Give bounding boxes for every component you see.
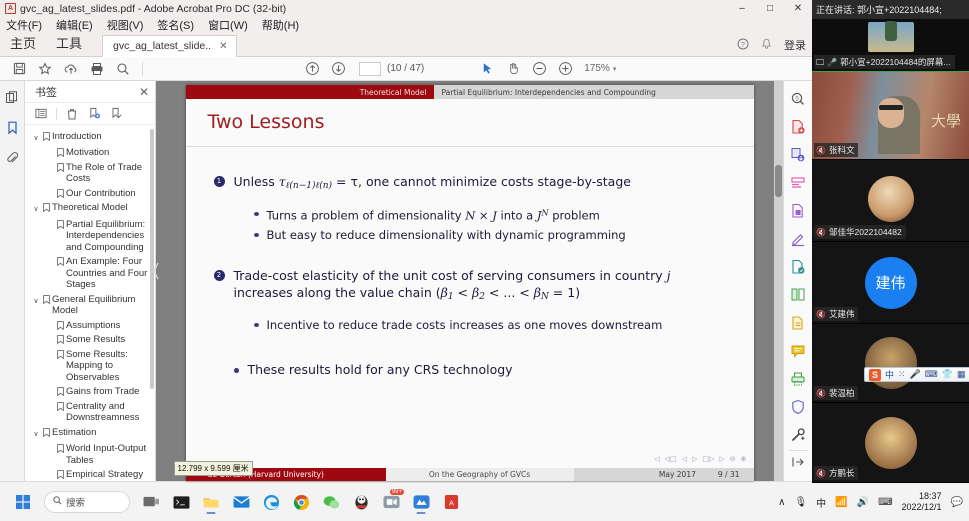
select-tool-icon[interactable] <box>474 58 500 80</box>
bookmark-spacer <box>45 386 55 388</box>
nav-zoomout-icon[interactable]: ⊖ <box>729 455 737 463</box>
fill-sign-icon[interactable] <box>787 229 809 249</box>
help-icon[interactable]: ? <box>737 38 749 53</box>
bookmark-item[interactable]: ∨Introduction <box>25 129 155 146</box>
tau-symbol: τ <box>279 174 286 189</box>
participant-name: 邹佳华2022104482 <box>829 226 902 238</box>
document-view[interactable]: Theoretical Model Partial Equilibrium: I… <box>156 81 783 481</box>
create-pdf-icon[interactable] <box>787 117 809 137</box>
ime-menu-icon[interactable]: ▦ <box>957 369 966 380</box>
slide-subsection-label: Partial Equilibrium: Interdependencies a… <box>434 85 754 99</box>
mail-icon[interactable] <box>228 489 254 515</box>
slide-footer-date: May 2017 <box>659 470 696 479</box>
search-input[interactable]: 搜索 <box>44 491 130 513</box>
bookmark-item[interactable]: An Example: Four Countries and Four Stag… <box>25 255 155 293</box>
edit-bookmark-icon[interactable] <box>106 105 126 123</box>
speaking-banner: 正在讲话: 郭小宣+2022104484; <box>812 0 969 19</box>
bullet-dot <box>254 323 259 327</box>
bookmark-icon <box>55 334 66 344</box>
bullet-dot <box>254 233 259 237</box>
scan-ocr-icon[interactable] <box>787 369 809 389</box>
scrollbar-thumb[interactable] <box>775 165 782 197</box>
bookmark-item[interactable]: Gains from Trade <box>25 385 155 400</box>
bookmark-spacer <box>45 443 55 445</box>
mic-muted-icon: 🔇 <box>816 146 826 155</box>
avatar: 建伟 <box>865 257 917 309</box>
bookmarks-panel: 书签 ✕ ∨IntroductionMotivationThe <box>25 81 156 481</box>
video-tile-camera-2[interactable]: 🔇 邹佳华2022104482 <box>812 160 969 242</box>
bookmark-icon <box>55 147 66 157</box>
point-1-prefix: Unless <box>234 174 279 189</box>
mic-muted-icon: 🔇 <box>816 469 826 478</box>
tab-strip: 主页 工具 gvc_ag_latest_slide.. ✕ ? 登录 <box>0 33 812 57</box>
slide-section-label: Theoretical Model <box>186 85 434 99</box>
participant-name: 方鹏长 <box>829 467 855 479</box>
tools-rail: () <box>783 81 812 481</box>
file-explorer-icon[interactable] <box>198 489 224 515</box>
nav-play-icon[interactable]: ▷ <box>691 455 698 463</box>
point-number-badge: 2 <box>214 270 225 281</box>
bookmark-spacer <box>45 334 55 336</box>
start-icon[interactable] <box>10 489 36 515</box>
bookmark-item[interactable]: Motivation <box>25 146 155 161</box>
slide-point-1: 1 Unless τℓ(n−1)ℓ(n) = τ, one cannot min… <box>214 173 726 195</box>
bookmark-icon <box>55 320 66 330</box>
zoom-out-icon[interactable] <box>526 58 552 80</box>
subpoint-text: But easy to reduce dimensionality with d… <box>267 225 626 245</box>
enhance-scans-icon[interactable] <box>787 313 809 333</box>
bookmark-item[interactable]: The Role of Trade Costs <box>25 160 155 186</box>
delete-bookmark-icon[interactable] <box>62 105 82 123</box>
nav-zoomin-icon[interactable]: ⊕ <box>740 455 748 463</box>
chevron-down-icon[interactable]: ∨ <box>31 202 41 216</box>
acrobat-icon[interactable]: A <box>438 489 464 515</box>
hand-tool-icon[interactable] <box>500 58 526 80</box>
subpoint: Incentive to reduce trade costs increase… <box>254 315 726 335</box>
point-2-text: Trade-cost elasticity of the unit cost o… <box>234 267 726 306</box>
bookmark-item[interactable]: Assumptions <box>25 318 155 333</box>
bookmark-spacer <box>45 349 55 351</box>
organize-pages-icon[interactable] <box>787 285 809 305</box>
ime-mode-label[interactable]: 中 <box>885 368 894 381</box>
video-tile-screenshare[interactable]: 正在讲话: 郭小宣+2022104484; 🖵 🎤 郭小宣+2022104484… <box>812 0 969 72</box>
bookmark-item[interactable]: Partial Equilibrium: Interdependencies a… <box>25 217 155 255</box>
minimize-button[interactable]: – <box>728 0 756 17</box>
tray-expand-icon[interactable]: ∧ <box>778 497 785 508</box>
video-tile-avatar-3[interactable]: 🔇 方鹏长 <box>812 403 969 483</box>
bookmark-label: Some Results: Mapping to Observables <box>66 349 151 384</box>
tray-ime-icon[interactable]: 中 <box>816 495 826 510</box>
point-1-text: Unless τℓ(n−1)ℓ(n) = τ, one cannot minim… <box>234 173 631 195</box>
bookmark-item[interactable]: Some Results: Mapping to Observables <box>25 347 155 385</box>
new-bookmark-icon[interactable] <box>84 105 104 123</box>
video-tile-label: 🔇 艾建伟 <box>814 307 858 321</box>
bookmark-label: Motivation <box>66 147 151 159</box>
nav-next-icon[interactable]: □▷ <box>701 455 715 463</box>
sogou-logo-icon[interactable]: S <box>869 369 881 381</box>
chevron-down-icon[interactable]: ▾ <box>613 65 617 73</box>
terminal-icon[interactable] <box>168 489 194 515</box>
bookmark-label: The Role of Trade Costs <box>66 162 151 185</box>
system-tray: ∧ 🎙 中 📶 🔊 ⌨ 18:37 2022/12/1 💬 <box>778 491 969 513</box>
mic-muted-icon: 🔇 <box>816 228 826 237</box>
collapse-panel-icon[interactable] <box>791 456 805 471</box>
menu-bar: 文件(F) 编辑(E) 视图(V) 签名(S) 窗口(W) 帮助(H) <box>0 17 812 33</box>
save-icon[interactable] <box>6 58 32 80</box>
bookmark-icon <box>55 386 66 396</box>
bookmark-item[interactable]: Our Contribution <box>25 186 155 201</box>
tab-home[interactable]: 主页 <box>0 31 46 56</box>
bookmarks-header: 书签 ✕ <box>25 81 155 103</box>
video-tile-avatar-2[interactable]: 🔇 裴温柏 <box>812 324 969 403</box>
panel-resize-handle[interactable] <box>152 251 160 291</box>
participant-name: 艾建伟 <box>829 308 855 320</box>
page-thumbnails-icon[interactable] <box>2 89 22 107</box>
bookmark-label: Introduction <box>52 131 151 143</box>
page-size-tooltip: 12.799 x 9.599 厘米 <box>174 461 253 476</box>
bullet-dot <box>234 368 239 373</box>
tab-tools[interactable]: 工具 <box>46 31 92 56</box>
netease-icon[interactable] <box>408 489 434 515</box>
bookmark-item[interactable]: World Input-Output Tables <box>25 442 155 468</box>
bookmark-icon <box>55 219 66 229</box>
bookmark-label: Centrality and Downstreamness <box>66 401 151 424</box>
running-indicator <box>417 512 426 514</box>
mic-muted-icon: 🔇 <box>816 389 826 398</box>
bookmark-icon <box>41 427 52 437</box>
svg-text:(): () <box>795 96 799 102</box>
menu-view[interactable]: 视图(V) <box>107 17 144 33</box>
bell-icon[interactable] <box>761 38 772 53</box>
bookmark-spacer <box>45 162 55 164</box>
close-icon[interactable]: ✕ <box>139 85 149 99</box>
menu-help[interactable]: 帮助(H) <box>262 17 299 33</box>
video-tile-label: 🔇 方鹏长 <box>814 466 858 480</box>
protect-icon[interactable] <box>787 397 809 417</box>
slide-body: 1 Unless τℓ(n−1)ℓ(n) = τ, one cannot min… <box>186 147 754 378</box>
star-icon[interactable] <box>32 58 58 80</box>
taskbar-apps: 搜索 99+ <box>0 489 464 515</box>
zoom-level-label[interactable]: 175% <box>584 63 610 74</box>
tencent-meeting-icon[interactable]: 99+ <box>378 489 404 515</box>
search-tool-icon[interactable]: () <box>787 89 809 109</box>
bookmark-spacer <box>45 147 55 149</box>
subpoint-text: Incentive to reduce trade costs increase… <box>267 315 663 335</box>
bookmark-label: General Equilibrium Model <box>52 294 151 317</box>
nav-back-icon[interactable]: ◁ <box>681 455 688 463</box>
windows-taskbar: 搜索 99+ <box>0 483 969 521</box>
slide-final-point: These results hold for any CRS technolog… <box>214 361 726 378</box>
combine-files-icon[interactable] <box>787 145 809 165</box>
chevron-down-icon[interactable]: ∨ <box>31 294 41 308</box>
maximize-button[interactable]: □ <box>756 0 784 17</box>
bullet-dot <box>254 212 259 216</box>
tab-strip-right: ? 登录 <box>737 37 806 53</box>
point-1-middle: = τ, <box>332 174 366 189</box>
bookmark-icon <box>55 349 66 359</box>
export-pdf-icon[interactable] <box>787 201 809 221</box>
nav-last-icon[interactable]: ▷ <box>718 455 725 463</box>
bookmark-options-icon[interactable] <box>31 105 51 123</box>
pdf-page: Theoretical Model Partial Equilibrium: I… <box>186 85 754 481</box>
toolbar-separator <box>142 62 143 76</box>
video-conference-panel: 正在讲话: 郭小宣+2022104484; 🖵 🎤 郭小宣+2022104484… <box>812 0 969 483</box>
clock[interactable]: 18:37 2022/12/1 <box>902 491 942 513</box>
nav-first-icon[interactable]: ◁ <box>653 455 660 463</box>
subpoint: But easy to reduce dimensionality with d… <box>254 225 726 245</box>
bookmark-item[interactable]: Centrality and Downstreamness <box>25 399 155 425</box>
bookmarks-title: 书签 <box>35 84 57 100</box>
tray-wifi-icon[interactable]: 📶 <box>835 497 847 508</box>
bookmark-item[interactable]: Empirical Strategy <box>25 468 155 482</box>
main-toolbar: (10 / 47) 175% ▾ <box>0 57 812 81</box>
bookmark-label: Gains from Trade <box>66 386 151 398</box>
edit-pdf-icon[interactable] <box>787 173 809 193</box>
pdf-app-icon: A <box>5 3 16 14</box>
slide-footer-title: On the Geography of GVCs <box>386 468 574 481</box>
tau-subscript: ℓ(n−1)ℓ(n) <box>286 181 332 191</box>
slide-footer-right: May 2017 9 / 31 <box>574 468 754 481</box>
bookmark-list[interactable]: ∨IntroductionMotivationThe Role of Trade… <box>25 125 155 481</box>
ime-voice-icon[interactable]: 🎤 <box>910 369 921 380</box>
bookmark-icon <box>55 401 66 411</box>
video-tile-label: 🔇 邹佳华2022104482 <box>814 225 906 239</box>
slide-footer: de Gortari (Harvard University) On the G… <box>186 468 754 481</box>
screenshare-icon: 🖵 <box>816 57 824 68</box>
page-count-label: (10 / 47) <box>387 63 424 74</box>
rail-divider <box>789 450 808 451</box>
bookmark-icon <box>55 469 66 479</box>
window-controls: – □ ✕ <box>728 0 812 17</box>
page-number-input[interactable] <box>359 62 381 76</box>
tray-mic-icon[interactable]: 🎙 <box>794 497 807 508</box>
mic-icon: 🎤 <box>827 58 837 67</box>
bookmark-spacer <box>45 469 55 471</box>
svg-text:?: ? <box>741 42 745 49</box>
bookmarks-toolbar <box>25 103 155 125</box>
window-title: gvc_ag_latest_slides.pdf - Adobe Acrobat… <box>20 3 286 15</box>
slide-nav-controls[interactable]: ◁ ◁□ ◁ ▷ □▷ ▷ ⊖ ⊕ <box>653 455 747 463</box>
bookmark-icon <box>55 443 66 453</box>
video-tile-camera-1[interactable]: 大學 🔇 张科文 <box>812 72 969 160</box>
participant-name: 郭小宣+2022104484的屏幕... <box>840 56 950 68</box>
tab-document-label: gvc_ag_latest_slide.. <box>113 40 211 52</box>
comment-icon[interactable] <box>787 341 809 361</box>
bookmark-label: Estimation <box>52 427 151 439</box>
signin-button[interactable]: 登录 <box>784 37 806 53</box>
nav-prev-icon[interactable]: ◁□ <box>664 455 678 463</box>
clock-time: 18:37 <box>902 491 942 502</box>
bookmark-spacer <box>45 320 55 322</box>
zoom-in-icon[interactable] <box>552 58 578 80</box>
bookmark-label: Some Results <box>66 334 151 346</box>
tray-volume-icon[interactable]: 🔊 <box>857 497 869 508</box>
navigation-rail <box>0 81 25 481</box>
avatar <box>865 417 917 469</box>
participant-name: 裴温柏 <box>829 387 855 399</box>
document-scrollbar[interactable] <box>774 81 783 481</box>
sogou-ime-bar[interactable]: S 中 ⁙ 🎤 ⌨ 👕 ▦ <box>864 367 969 382</box>
chevron-down-icon[interactable]: ∨ <box>31 427 41 441</box>
slide-point-2-subpoints: Incentive to reduce trade costs increase… <box>254 315 726 335</box>
bookmark-icon <box>41 294 52 304</box>
qq-icon[interactable] <box>348 489 374 515</box>
previous-page-icon[interactable] <box>299 58 325 80</box>
bookmark-item[interactable]: ∨Theoretical Model <box>25 201 155 218</box>
bookmark-item[interactable]: ∨General Equilibrium Model <box>25 292 155 318</box>
bookmarks-icon[interactable] <box>2 119 22 137</box>
menu-window[interactable]: 窗口(W) <box>208 17 248 33</box>
bookmark-icon <box>41 202 52 212</box>
badge: 99+ <box>390 489 404 495</box>
tray-keyboard-icon[interactable]: ⌨ <box>878 497 892 508</box>
print-icon[interactable] <box>84 58 110 80</box>
notification-icon[interactable]: 💬 <box>951 497 963 508</box>
video-tile-label: 🔇 张科文 <box>814 143 858 157</box>
bookmark-spacer <box>45 219 55 221</box>
bookmark-spacer <box>45 188 55 190</box>
running-indicator <box>207 512 216 514</box>
clock-date: 2022/12/1 <box>902 502 942 513</box>
slide-point-1-subpoints: Turns a problem of dimensionality N × J … <box>254 204 726 245</box>
ime-skin-icon[interactable]: 👕 <box>942 369 953 380</box>
attachments-icon[interactable] <box>2 149 22 167</box>
ime-more-icon[interactable]: ⁙ <box>898 369 906 380</box>
app-body: 书签 ✕ ∨IntroductionMotivationThe <box>0 81 812 481</box>
bookmark-item[interactable]: Some Results <box>25 333 155 348</box>
upload-cloud-icon[interactable] <box>58 58 84 80</box>
slide-point-2: 2 Trade-cost elasticity of the unit cost… <box>214 267 726 306</box>
bookmark-icon <box>55 162 66 172</box>
search-icon[interactable] <box>110 58 136 80</box>
search-icon <box>53 496 62 508</box>
redact-icon[interactable] <box>787 425 809 445</box>
taskview-icon[interactable] <box>138 489 164 515</box>
slide-header: Theoretical Model Partial Equilibrium: I… <box>186 85 754 99</box>
video-tile-label: 🔇 裴温柏 <box>814 386 858 400</box>
chrome-icon[interactable] <box>288 489 314 515</box>
subpoint-text: Turns a problem of dimensionality N × J … <box>267 204 600 225</box>
bookmark-icon <box>55 256 66 266</box>
bookmark-label: Our Contribution <box>66 188 151 200</box>
tab-document[interactable]: gvc_ag_latest_slide.. ✕ <box>102 35 236 57</box>
edge-icon[interactable] <box>258 489 284 515</box>
bookmark-item[interactable]: ∨Estimation <box>25 425 155 442</box>
wechat-icon[interactable] <box>318 489 344 515</box>
chevron-down-icon[interactable]: ∨ <box>31 131 41 145</box>
point-1-suffix: one cannot minimize costs stage-by-stage <box>366 174 631 189</box>
close-icon[interactable]: ✕ <box>219 41 227 52</box>
bookmark-icon <box>41 131 52 141</box>
subpoint: Turns a problem of dimensionality N × J … <box>254 204 726 225</box>
svg-text:A: A <box>448 498 453 507</box>
bookmark-label: An Example: Four Countries and Four Stag… <box>66 256 151 291</box>
bookmark-label: Assumptions <box>66 320 151 332</box>
send-for-signature-icon[interactable] <box>787 257 809 277</box>
participant-name: 张科文 <box>829 144 855 156</box>
next-page-icon[interactable] <box>325 58 351 80</box>
bookmark-label: Empirical Strategy <box>66 469 151 481</box>
menu-sign[interactable]: 签名(S) <box>157 17 194 33</box>
bookmark-icon <box>55 188 66 198</box>
bookmark-spacer <box>45 401 55 403</box>
ime-keyboard-icon[interactable]: ⌨ <box>925 369 938 380</box>
bookmark-label: World Input-Output Tables <box>66 443 151 466</box>
video-tile-label: 🖵 🎤 郭小宣+2022104484的屏幕... <box>814 55 955 69</box>
close-button[interactable]: ✕ <box>784 0 812 17</box>
acrobat-window: A gvc_ag_latest_slides.pdf - Adobe Acrob… <box>0 0 812 483</box>
bookmark-label: Theoretical Model <box>52 202 151 214</box>
slide-footer-page: 9 / 31 <box>718 470 740 479</box>
final-point-text: These results hold for any CRS technolog… <box>248 361 513 378</box>
title-bar: A gvc_ag_latest_slides.pdf - Adobe Acrob… <box>0 0 812 17</box>
video-tile-avatar-1[interactable]: 建伟 🔇 艾建伟 <box>812 242 969 324</box>
point-number-badge: 1 <box>214 176 225 187</box>
bookmark-spacer <box>45 256 55 258</box>
bookmark-label: Partial Equilibrium: Interdependencies a… <box>66 219 151 254</box>
search-placeholder: 搜索 <box>66 495 85 509</box>
slide-title: Two Lessons <box>186 99 754 133</box>
mic-muted-icon: 🔇 <box>816 310 826 319</box>
